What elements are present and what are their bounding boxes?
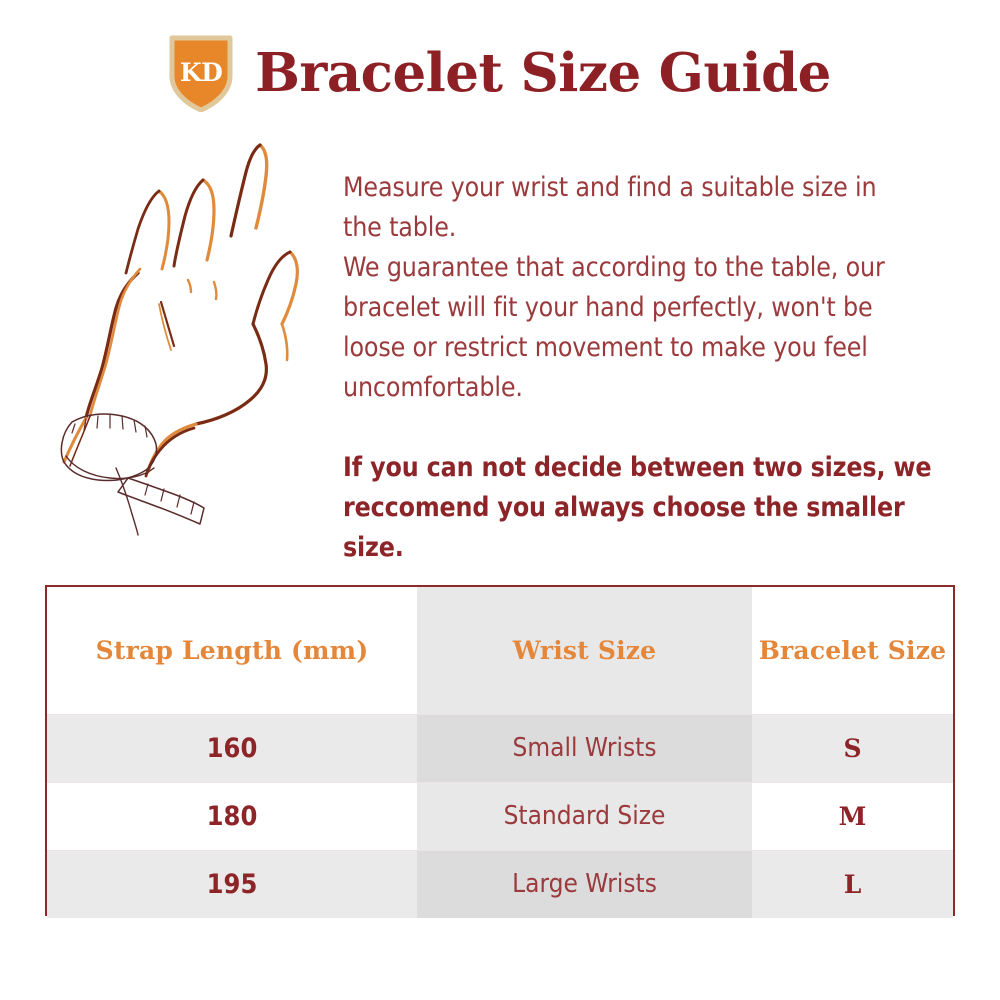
size-table-header: Strap Length (mm) Wrist Size Bracelet Si…: [47, 587, 953, 714]
hand-with-measuring-tape-illustration: [28, 132, 328, 537]
table-row: 160 Small Wrists S: [47, 714, 953, 782]
instructions-line-6: uncomfortable.: [343, 372, 523, 403]
instructions-block: Measure your wrist and find a suitable s…: [343, 168, 943, 568]
cell-bracelet-size: L: [752, 850, 953, 918]
instructions-paragraph: Measure your wrist and find a suitable s…: [343, 168, 943, 408]
instructions-line-3: We guarantee that according to the table…: [343, 252, 885, 283]
page-title: Bracelet Size Guide: [255, 47, 831, 100]
column-header-bracelet-size: Bracelet Size: [752, 587, 953, 714]
table-header-row: Strap Length (mm) Wrist Size Bracelet Si…: [47, 587, 953, 714]
page-header: KD Bracelet Size Guide: [0, 33, 1000, 113]
table-row: 180 Standard Size M: [47, 782, 953, 850]
instructions-line-5: loose or restrict movement to make you f…: [343, 332, 868, 363]
column-header-wrist-size: Wrist Size: [417, 587, 752, 714]
table-row: 195 Large Wrists L: [47, 850, 953, 918]
logo-letters: KD: [169, 58, 233, 87]
hand-illustration-svg: [28, 132, 328, 537]
instructions-line-1: Measure your wrist and find a suitable s…: [343, 172, 876, 203]
cell-wrist-size: Standard Size: [417, 782, 752, 850]
bracelet-size-guide-page: KD Bracelet Size Guide: [0, 0, 1000, 1000]
cell-bracelet-size: M: [752, 782, 953, 850]
cell-strap-length: 195: [47, 850, 417, 918]
cell-bracelet-size: S: [752, 714, 953, 782]
recommendation-note: If you can not decide between two sizes,…: [343, 448, 943, 568]
instructions-line-2: the table.: [343, 212, 456, 243]
cell-wrist-size: Large Wrists: [417, 850, 752, 918]
cell-strap-length: 180: [47, 782, 417, 850]
column-header-strap-length: Strap Length (mm): [47, 587, 417, 714]
size-table-container: Strap Length (mm) Wrist Size Bracelet Si…: [45, 585, 955, 916]
kd-logo: KD: [169, 34, 233, 112]
instructions-line-4: bracelet will fit your hand perfectly, w…: [343, 292, 873, 323]
size-table: Strap Length (mm) Wrist Size Bracelet Si…: [47, 587, 953, 918]
cell-strap-length: 160: [47, 714, 417, 782]
cell-wrist-size: Small Wrists: [417, 714, 752, 782]
size-table-body: 160 Small Wrists S 180 Standard Size M 1…: [47, 714, 953, 918]
